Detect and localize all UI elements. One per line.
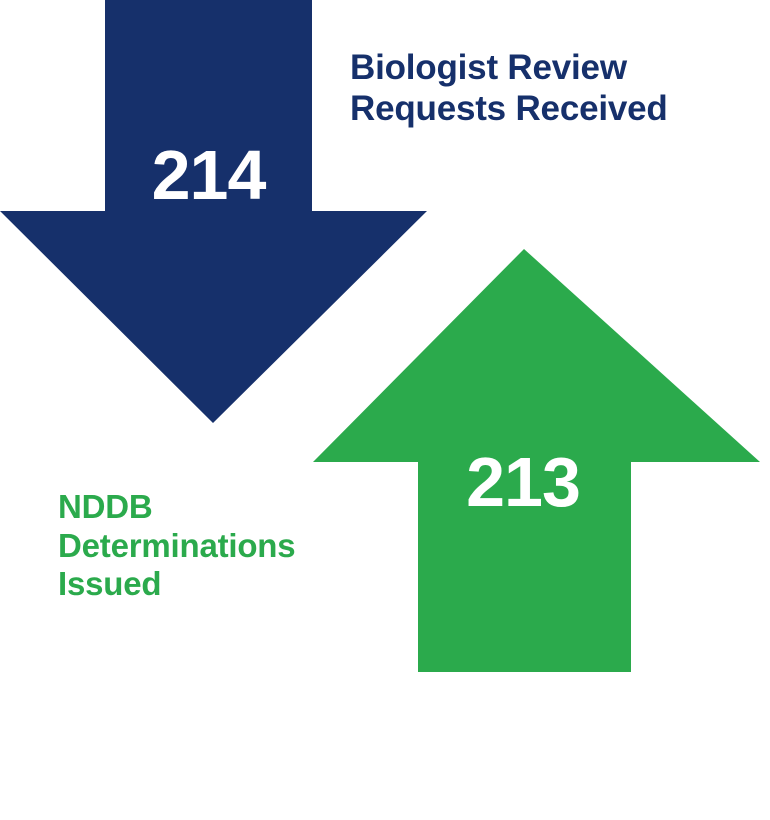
up-arrow-label: NDDB Determinations Issued bbox=[58, 488, 398, 604]
down-arrow-value: 214 bbox=[0, 140, 417, 210]
down-arrow-label: Biologist Review Requests Received bbox=[350, 48, 760, 130]
infographic-canvas: 214 213 Biologist Review Requests Receiv… bbox=[0, 0, 770, 820]
